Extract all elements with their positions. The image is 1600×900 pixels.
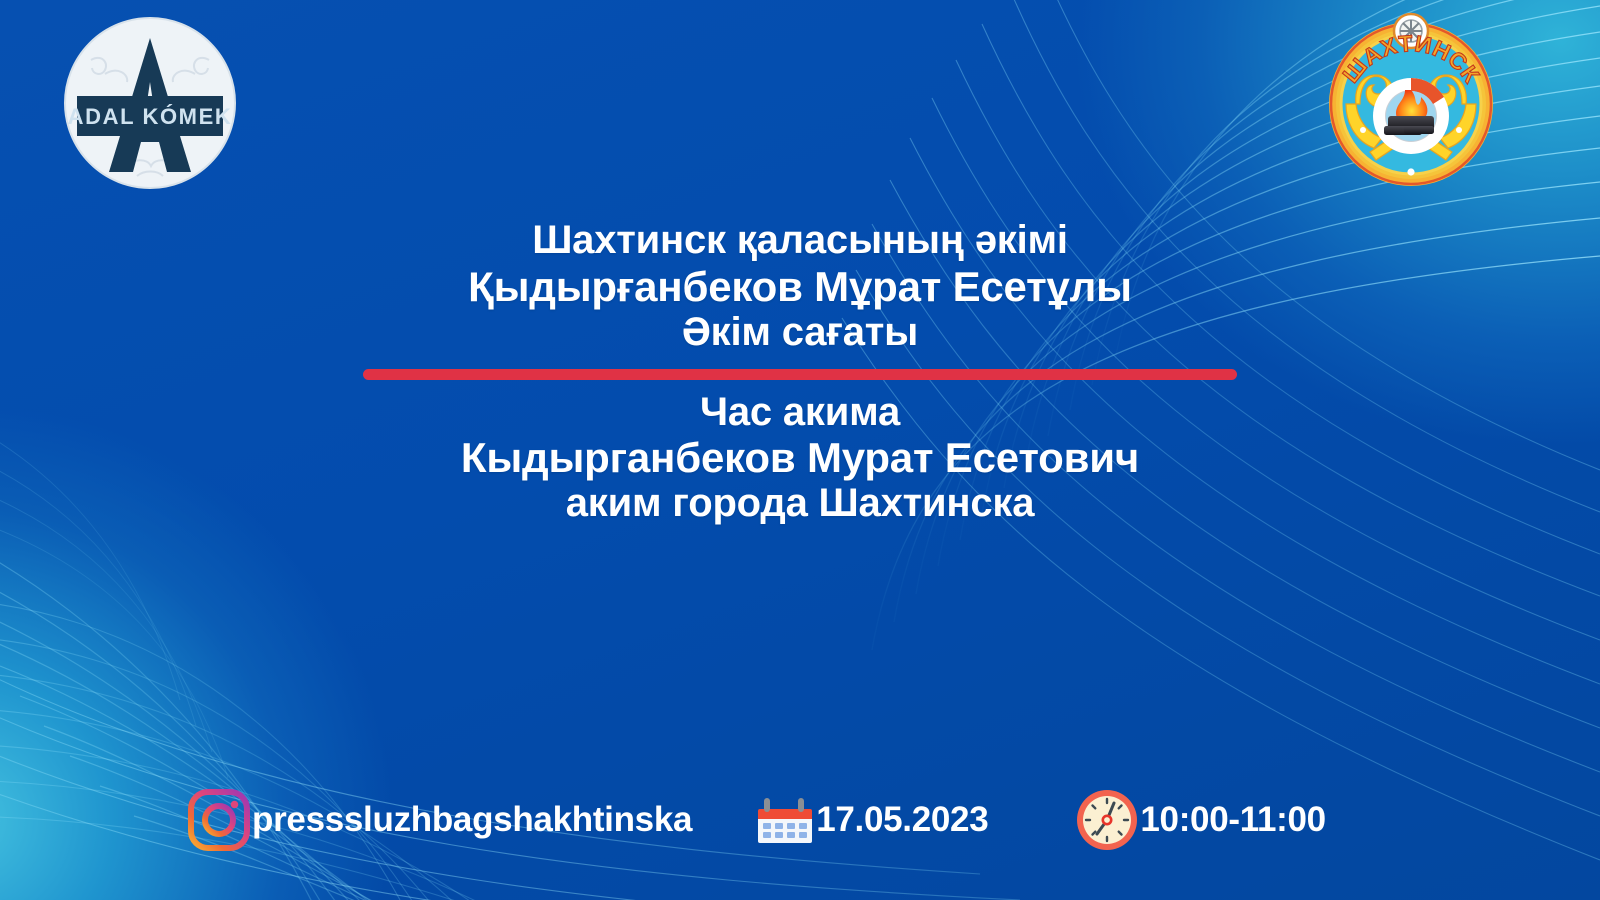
footer-meta-row: presssluzhbagshakhtinska <box>0 778 1600 862</box>
instagram-icon[interactable] <box>188 789 250 851</box>
clock-icon <box>1074 787 1140 853</box>
red-divider-wrap <box>0 369 1600 380</box>
date-meta: 17.05.2023 <box>754 789 988 851</box>
ru-headline-line-3: аким города Шахтинска <box>0 481 1600 526</box>
announcement-poster: ADAL KÓMEK <box>0 0 1600 900</box>
kz-headline-line-3: Әкім сағаты <box>0 310 1600 355</box>
adal-komek-logo: ADAL KÓMEK <box>63 16 237 190</box>
main-text-block: Шахтинск қаласының әкімі Қыдырғанбеков М… <box>0 218 1600 526</box>
instagram-handle: presssluzhbagshakhtinska <box>252 800 692 840</box>
calendar-icon <box>754 789 816 851</box>
red-divider <box>363 369 1237 380</box>
event-time: 10:00-11:00 <box>1140 800 1325 840</box>
ru-headline-line-2: Кыдырганбеков Мурат Есетович <box>0 434 1600 481</box>
kz-headline-line-2: Қыдырғанбеков Мұрат Есетұлы <box>0 263 1600 310</box>
time-meta: 10:00-11:00 <box>1074 787 1325 853</box>
instagram-meta[interactable]: presssluzhbagshakhtinska <box>188 789 692 851</box>
event-date: 17.05.2023 <box>816 800 988 840</box>
adal-komek-banner-text: ADAL KÓMEK <box>68 104 233 129</box>
ru-headline-line-1: Час акима <box>0 390 1600 435</box>
shakhtinsk-city-emblem: ШАХТИНСК <box>1322 12 1500 190</box>
kz-headline-line-1: Шахтинск қаласының әкімі <box>0 218 1600 263</box>
